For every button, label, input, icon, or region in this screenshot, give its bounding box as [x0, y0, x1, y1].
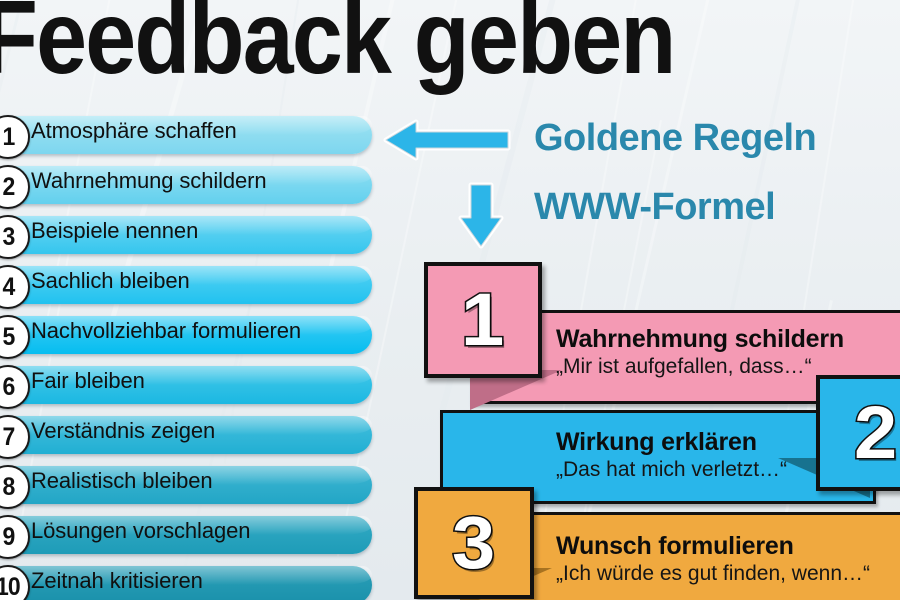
golden-rules-heading: Goldene Regeln: [534, 117, 816, 160]
www-card-title: Wahrnehmung schildern: [556, 325, 844, 354]
rule-label: Beispiele nennen: [31, 218, 198, 244]
www-card-title: Wunsch formulieren: [556, 532, 870, 561]
rule-label: Realistisch bleiben: [31, 468, 213, 494]
list-item[interactable]: 1Atmosphäre schaffen: [0, 110, 392, 160]
arrow-left-icon: [382, 118, 512, 162]
www-card-quote: „Das hat mich verletzt…“: [556, 458, 787, 482]
www-card-quote: „Ich würde es gut finden, wenn…“: [556, 562, 870, 586]
arrow-down-icon: [455, 180, 507, 250]
rule-label: Atmosphäre schaffen: [31, 118, 237, 144]
rule-label: Zeitnah kritisieren: [31, 568, 203, 594]
rule-number: 8: [2, 473, 14, 502]
www-card-number: 1: [461, 283, 504, 357]
list-item[interactable]: 5Nachvollziehbar formulieren: [0, 310, 392, 360]
www-card-quote: „Mir ist aufgefallen, dass…“: [556, 355, 844, 379]
www-card-text: Wirkung erklären„Das hat mich verletzt…“: [556, 428, 787, 482]
www-card-text: Wunsch formulieren„Ich würde es gut find…: [556, 532, 870, 586]
www-card-text: Wahrnehmung schildern„Mir ist aufgefalle…: [556, 325, 844, 379]
rule-label: Wahrnehmung schildern: [31, 168, 267, 194]
rule-number: 2: [2, 173, 14, 202]
rule-number: 5: [2, 323, 14, 352]
rule-number: 4: [2, 273, 14, 302]
www-card-number-box: 1: [424, 262, 542, 378]
list-item[interactable]: 3Beispiele nennen: [0, 210, 392, 260]
list-item[interactable]: 10Zeitnah kritisieren: [0, 560, 392, 600]
page-title: Feedback geben: [0, 0, 827, 90]
list-item[interactable]: 9Lösungen vorschlagen: [0, 510, 392, 560]
poster-canvas: Feedback geben 1Atmosphäre schaffen2Wahr…: [0, 0, 900, 600]
www-formula-heading: WWW-Formel: [534, 186, 775, 229]
rule-label: Verständnis zeigen: [31, 418, 215, 444]
rule-number: 9: [2, 523, 14, 552]
list-item[interactable]: 6Fair bleiben: [0, 360, 392, 410]
rule-number: 10: [0, 573, 20, 600]
list-item[interactable]: 8Realistisch bleiben: [0, 460, 392, 510]
rule-number: 1: [2, 123, 14, 152]
rule-label: Fair bleiben: [31, 368, 145, 394]
list-item[interactable]: 2Wahrnehmung schildern: [0, 160, 392, 210]
rule-label: Sachlich bleiben: [31, 268, 190, 294]
rule-number: 7: [2, 423, 14, 452]
rule-number: 6: [2, 373, 14, 402]
rule-label: Nachvollziehbar formulieren: [31, 318, 301, 344]
list-item[interactable]: 7Verständnis zeigen: [0, 410, 392, 460]
www-card-number: 2: [854, 396, 897, 470]
list-item[interactable]: 4Sachlich bleiben: [0, 260, 392, 310]
www-card-number-box: 3: [414, 487, 534, 599]
www-card-number: 3: [452, 506, 495, 580]
www-card-title: Wirkung erklären: [556, 428, 787, 457]
golden-rules-list: 1Atmosphäre schaffen2Wahrnehmung schilde…: [0, 110, 392, 600]
rule-label: Lösungen vorschlagen: [31, 518, 250, 544]
rule-number: 3: [2, 223, 14, 252]
www-card-number-box: 2: [816, 375, 900, 491]
